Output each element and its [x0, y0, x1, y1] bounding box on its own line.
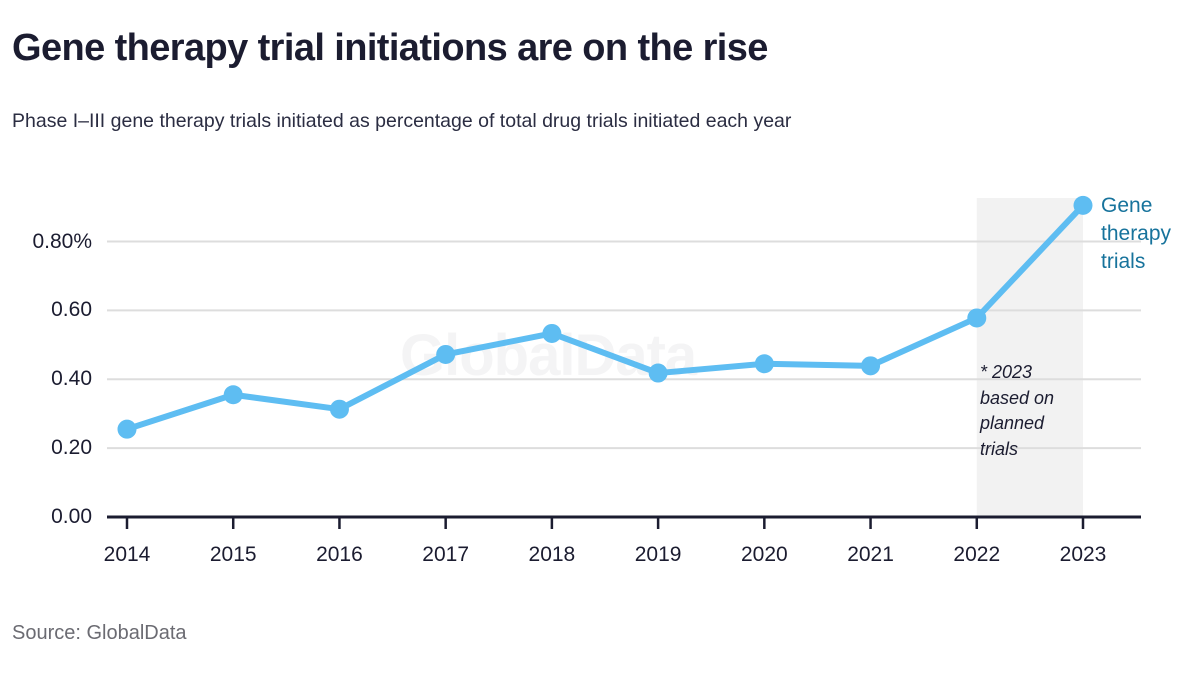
- x-axis-tick-label: 2020: [719, 544, 809, 565]
- data-point-marker[interactable]: [967, 308, 986, 327]
- source-caption: Source: GlobalData: [12, 622, 187, 645]
- x-axis-tick-label: 2018: [507, 544, 597, 565]
- data-point-marker[interactable]: [861, 356, 880, 375]
- y-axis-tick-label: 0.00: [0, 506, 92, 527]
- y-axis-tick-label: 0.80%: [0, 231, 92, 252]
- chart-plot-area: GlobalData 0.000.200.400.600.80% 2014201…: [0, 0, 1199, 675]
- line-chart-svg: [0, 0, 1199, 675]
- x-axis-tick-label: 2016: [294, 544, 384, 565]
- x-axis-tick-label: 2021: [826, 544, 916, 565]
- chart-page: Gene therapy trial initiations are on th…: [0, 0, 1199, 675]
- series-label-gene-therapy-trials: Gene therapy trials: [1101, 192, 1197, 276]
- x-axis-tick-marks: [127, 517, 1083, 529]
- x-axis-tick-label: 2015: [188, 544, 278, 565]
- data-point-marker[interactable]: [542, 324, 561, 343]
- highlight-band-2023: [977, 198, 1083, 517]
- annotation-2023-planned: * 2023 based on planned trials: [980, 360, 1076, 462]
- series-markers-gene-therapy-trials: [118, 196, 1093, 439]
- y-axis-tick-label: 0.40: [0, 368, 92, 389]
- x-axis-tick-label: 2019: [613, 544, 703, 565]
- data-point-marker[interactable]: [330, 400, 349, 419]
- data-point-marker[interactable]: [436, 345, 455, 364]
- data-point-marker[interactable]: [649, 364, 668, 383]
- x-axis-tick-label: 2014: [82, 544, 172, 565]
- y-axis-tick-label: 0.60: [0, 299, 92, 320]
- data-point-marker[interactable]: [224, 385, 243, 404]
- series-line-gene-therapy-trials: [127, 205, 1083, 429]
- y-axis-tick-label: 0.20: [0, 437, 92, 458]
- x-axis-tick-label: 2017: [401, 544, 491, 565]
- data-point-marker[interactable]: [1074, 196, 1093, 215]
- x-axis-tick-label: 2022: [932, 544, 1022, 565]
- data-point-marker[interactable]: [118, 420, 137, 439]
- x-axis-tick-label: 2023: [1038, 544, 1128, 565]
- data-point-marker[interactable]: [755, 354, 774, 373]
